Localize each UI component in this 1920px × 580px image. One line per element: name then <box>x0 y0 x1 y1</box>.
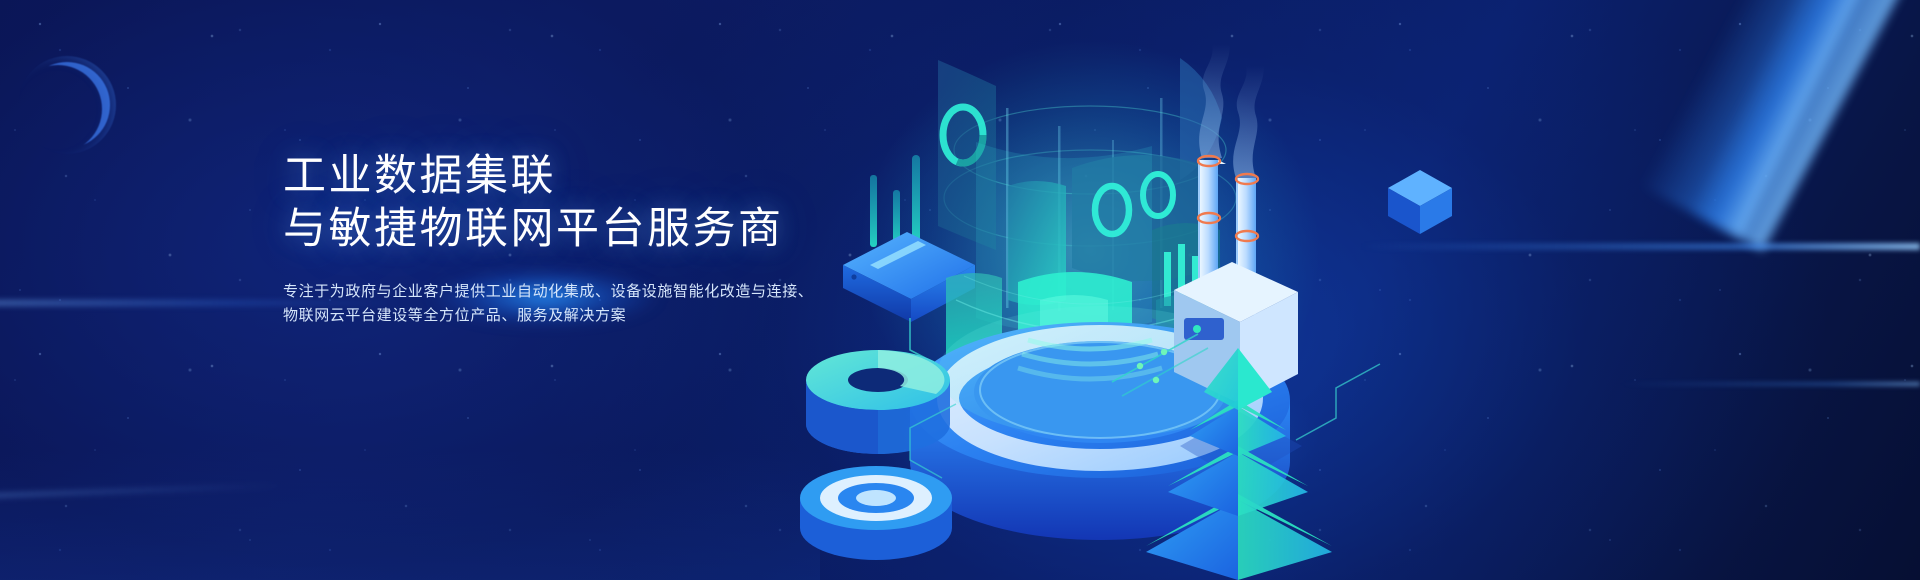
donut-chart <box>806 350 950 454</box>
hero-subtitle-line1: 专注于为政府与企业客户提供工业自动化集成、设备设施智能化改造与连接、 <box>283 280 903 304</box>
hero-copy: 工业数据集联 与敏捷物联网平台服务商 专注于为政府与企业客户提供工业自动化集成、… <box>283 150 903 328</box>
hero-title-line1: 工业数据集联 <box>283 150 903 203</box>
light-beam-bottom-left <box>0 483 280 500</box>
iot-illustration <box>760 0 1920 580</box>
hero-banner: 工业数据集联 与敏捷物联网平台服务商 专注于为政府与企业客户提供工业自动化集成、… <box>0 0 1920 580</box>
floor-gradient <box>0 450 820 580</box>
ring-disc <box>800 466 952 560</box>
crescent-moon-icon <box>24 62 110 148</box>
hero-title-line2: 与敏捷物联网平台服务商 <box>283 203 903 256</box>
hero-subtitle-line2: 物联网云平台建设等全方位产品、服务及解决方案 <box>283 304 903 328</box>
floating-cube <box>1388 170 1452 234</box>
